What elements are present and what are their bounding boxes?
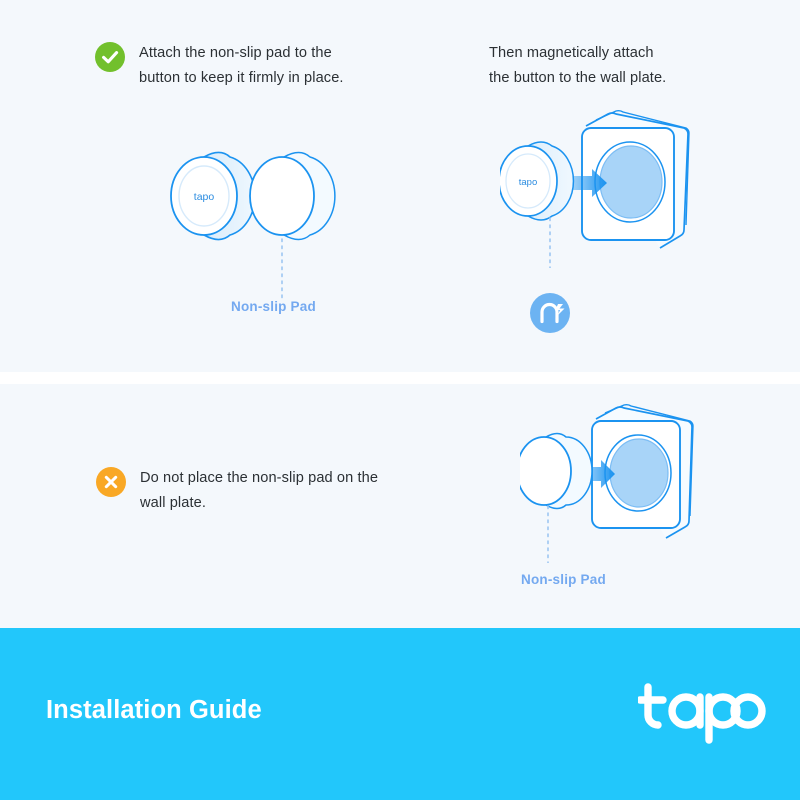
x-circle-icon <box>96 467 126 497</box>
step-row-correct-1: Attach the non-slip pad to the button to… <box>95 41 344 91</box>
step-text-correct-2: Then magnetically attach the button to t… <box>489 41 666 91</box>
step-text-correct-1: Attach the non-slip pad to the button to… <box>139 41 344 91</box>
illustration-pad-on-wallplate <box>520 403 715 568</box>
magnet-badge-circle <box>530 293 570 333</box>
pad-caption-2: Non-slip Pad <box>521 572 606 587</box>
step-row-incorrect-1: Do not place the non-slip pad on the wal… <box>96 466 378 516</box>
step-text-incorrect-1: Do not place the non-slip pad on the wal… <box>140 466 378 516</box>
illustration-button-to-wallplate: tapo <box>500 108 710 273</box>
button-brand-label-2: tapo <box>519 177 538 188</box>
button-brand-label: tapo <box>194 191 215 203</box>
installation-guide-page: Attach the non-slip pad to the button to… <box>0 0 800 800</box>
pad-caption-1: Non-slip Pad <box>231 299 316 314</box>
magnet-badge <box>527 290 573 341</box>
illustration-button-with-pad: tapo <box>160 135 350 320</box>
footer-title: Installation Guide <box>46 696 262 725</box>
check-circle-icon <box>95 42 125 72</box>
tapo-logo <box>638 682 766 749</box>
